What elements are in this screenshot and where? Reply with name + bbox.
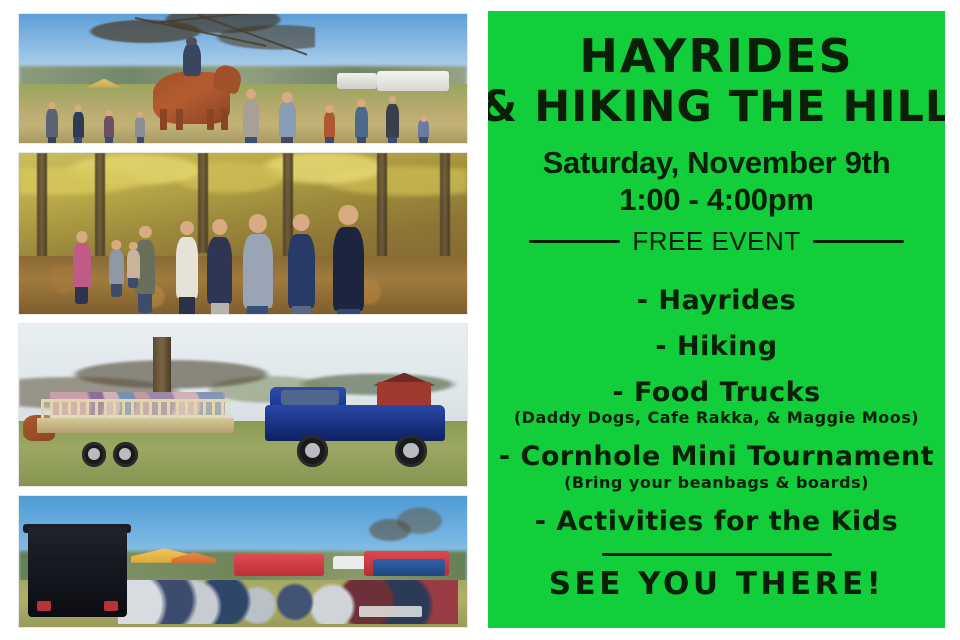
free-event-banner: FREE EVENT xyxy=(529,226,905,257)
person-head xyxy=(137,112,143,118)
tree-trunk xyxy=(198,153,208,253)
photo-1-scene xyxy=(19,14,467,143)
person-head xyxy=(282,92,293,103)
divider-left xyxy=(529,240,621,243)
person-legs xyxy=(128,278,138,288)
picnic-table xyxy=(359,606,422,616)
person-head xyxy=(389,96,397,104)
photo-collage xyxy=(18,13,468,628)
person-legs xyxy=(292,306,311,315)
person-head xyxy=(293,214,310,231)
person-legs xyxy=(74,137,82,144)
tree-trunk xyxy=(37,153,47,269)
person xyxy=(324,112,336,138)
person-legs xyxy=(281,137,293,144)
person-legs xyxy=(245,137,257,144)
person-head xyxy=(75,105,82,112)
child-legs xyxy=(419,137,427,143)
photo-4-scene xyxy=(19,496,467,627)
list-item: - Hayrides xyxy=(637,285,796,317)
person-legs xyxy=(111,284,122,297)
photo-hayride-field-crowd xyxy=(18,13,468,144)
hiker xyxy=(333,227,364,311)
person xyxy=(135,117,145,138)
person xyxy=(386,104,399,138)
tail-light xyxy=(104,601,118,611)
hiker xyxy=(176,237,198,298)
event-date: Saturday, November 9th xyxy=(543,146,891,180)
child-hiker xyxy=(109,250,124,285)
hiker xyxy=(243,234,273,308)
person-legs xyxy=(388,137,397,144)
person-legs xyxy=(179,297,195,315)
wagon-deck xyxy=(37,418,234,433)
activities-list: - Hayrides - Hiking - Food Trucks (Daddy… xyxy=(498,271,935,537)
event-flyer: HAYRIDES & HIKING THE HILL Saturday, Nov… xyxy=(0,0,960,640)
wagon-wheel xyxy=(113,442,138,467)
person-legs xyxy=(48,137,56,144)
person-legs xyxy=(337,309,360,315)
horse-rider xyxy=(183,42,202,76)
list-item: - Hiking xyxy=(655,331,777,363)
white-van xyxy=(337,73,377,88)
person-legs xyxy=(138,294,152,314)
person-head xyxy=(357,99,365,107)
person-head xyxy=(212,219,228,235)
person xyxy=(355,107,368,138)
tail-light xyxy=(37,601,51,611)
list-item-sub: (Daddy Dogs, Cafe Rakka, & Maggie Moos) xyxy=(514,409,919,427)
person-legs xyxy=(137,137,144,144)
photo-3-scene xyxy=(19,324,467,486)
horse-leg xyxy=(221,109,228,130)
child xyxy=(418,120,430,138)
photo-hiking-trail xyxy=(18,152,468,315)
person xyxy=(46,109,58,137)
child-hiker xyxy=(73,243,91,288)
person-legs xyxy=(357,137,366,144)
person-legs xyxy=(211,303,229,315)
person-head xyxy=(129,242,137,250)
free-event-label: FREE EVENT xyxy=(632,226,800,257)
page-title-line-1: HAYRIDES xyxy=(579,33,853,79)
crowd xyxy=(118,580,458,625)
person-head xyxy=(326,105,333,112)
closing-divider xyxy=(602,553,832,556)
event-info-panel: HAYRIDES & HIKING THE HILL Saturday, Nov… xyxy=(488,11,945,628)
child-head xyxy=(420,115,427,122)
hiker xyxy=(127,250,140,279)
tree-trunk xyxy=(440,153,450,266)
person-legs xyxy=(105,137,112,144)
truck-wheel xyxy=(297,435,328,466)
person xyxy=(73,112,84,138)
page-title-line-2: & HIKING THE HILL xyxy=(488,85,945,130)
list-item: - Activities for the Kids xyxy=(535,506,898,538)
event-time: 1:00 - 4:00pm xyxy=(619,182,813,218)
list-item: - Cornhole Mini Tournament xyxy=(499,441,934,473)
hiker xyxy=(207,237,232,305)
red-food-truck xyxy=(234,554,324,576)
person-head xyxy=(180,221,194,235)
blue-pickup-truck xyxy=(265,405,444,441)
person xyxy=(279,102,296,138)
person-head xyxy=(246,89,256,99)
closing-message: SEE YOU THERE! xyxy=(549,566,885,602)
blue-food-truck xyxy=(373,559,445,576)
truck-wheel xyxy=(395,435,426,466)
person xyxy=(104,116,114,138)
hiker xyxy=(288,234,315,308)
list-item-sub: (Bring your beanbags & boards) xyxy=(564,474,869,492)
photo-2-scene xyxy=(19,153,467,314)
person xyxy=(243,99,259,138)
person-legs xyxy=(75,287,88,303)
tree-trunk xyxy=(377,153,387,272)
autumn-foliage xyxy=(19,153,467,246)
horse-leg xyxy=(176,109,183,130)
person-legs xyxy=(247,306,268,315)
photo-food-trucks xyxy=(18,495,468,628)
divider-right xyxy=(813,240,905,243)
horse-leg xyxy=(160,109,167,130)
photo-hay-wagon-truck xyxy=(18,323,468,487)
white-van xyxy=(377,71,449,92)
person-legs xyxy=(325,137,333,144)
list-item: - Food Trucks xyxy=(612,377,820,409)
person-head xyxy=(106,110,112,116)
truck-window xyxy=(281,390,339,405)
wagon-wheel xyxy=(82,442,107,467)
horse-leg xyxy=(207,109,214,130)
